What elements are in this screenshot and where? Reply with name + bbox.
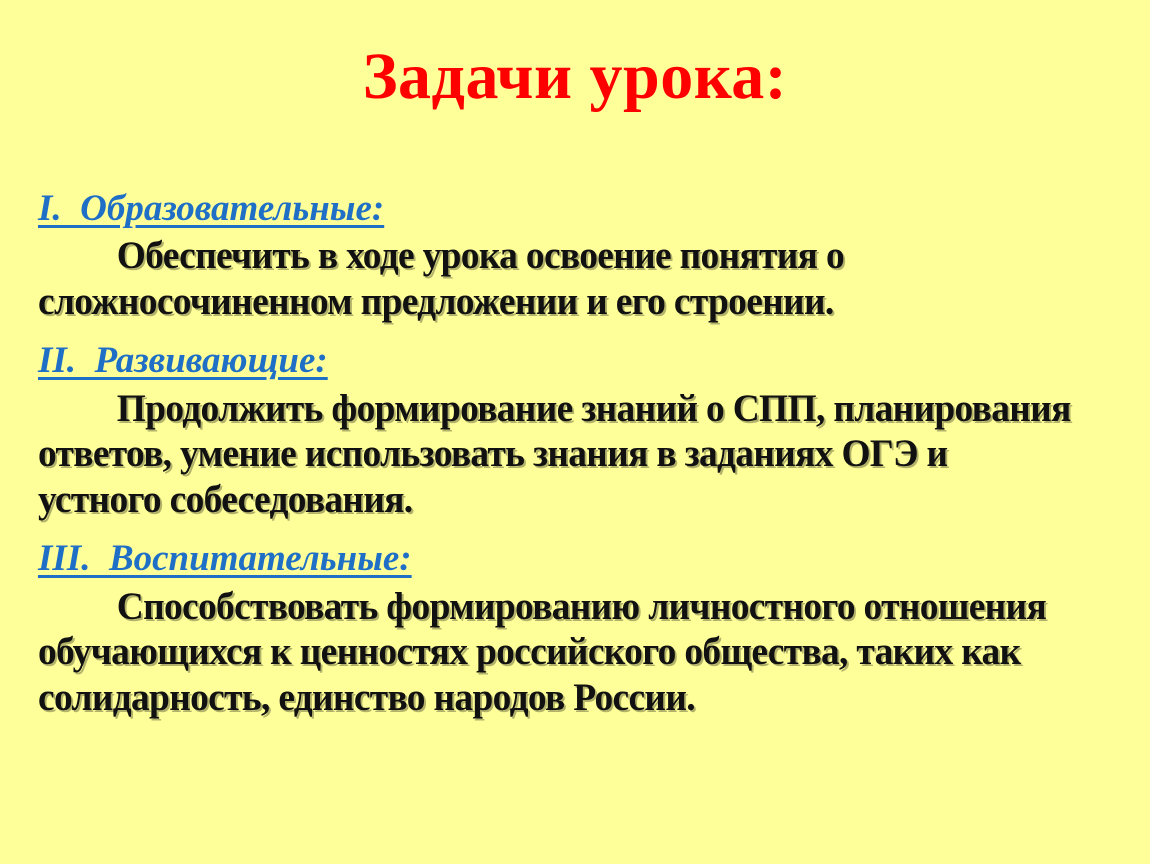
slide-body: I. Образовательные: Обеспечить в ходе ур… bbox=[38, 186, 1118, 720]
section-body-educational: Обеспечить в ходе урока освоение понятия… bbox=[38, 233, 1075, 324]
slide-title: Задачи урока: bbox=[0, 42, 1150, 111]
objectives-section-developmental: II. Развивающие: Продолжить формирование… bbox=[38, 338, 1118, 522]
section-heading-developmental: II. Развивающие: bbox=[38, 338, 328, 383]
section-heading-upbringing: III. Воспитательные: bbox=[38, 536, 412, 581]
presentation-slide: Задачи урока: I. Образовательные: Обеспе… bbox=[0, 0, 1150, 864]
section-body-developmental: Продолжить формирование знаний о СПП, пл… bbox=[38, 386, 1075, 523]
section-body-upbringing: Способствовать формированию личностного … bbox=[38, 584, 1075, 721]
objectives-section-upbringing: III. Воспитательные: Способствовать форм… bbox=[38, 536, 1118, 720]
objectives-section-educational: I. Образовательные: Обеспечить в ходе ур… bbox=[38, 186, 1118, 324]
section-heading-educational: I. Образовательные: bbox=[38, 186, 384, 231]
